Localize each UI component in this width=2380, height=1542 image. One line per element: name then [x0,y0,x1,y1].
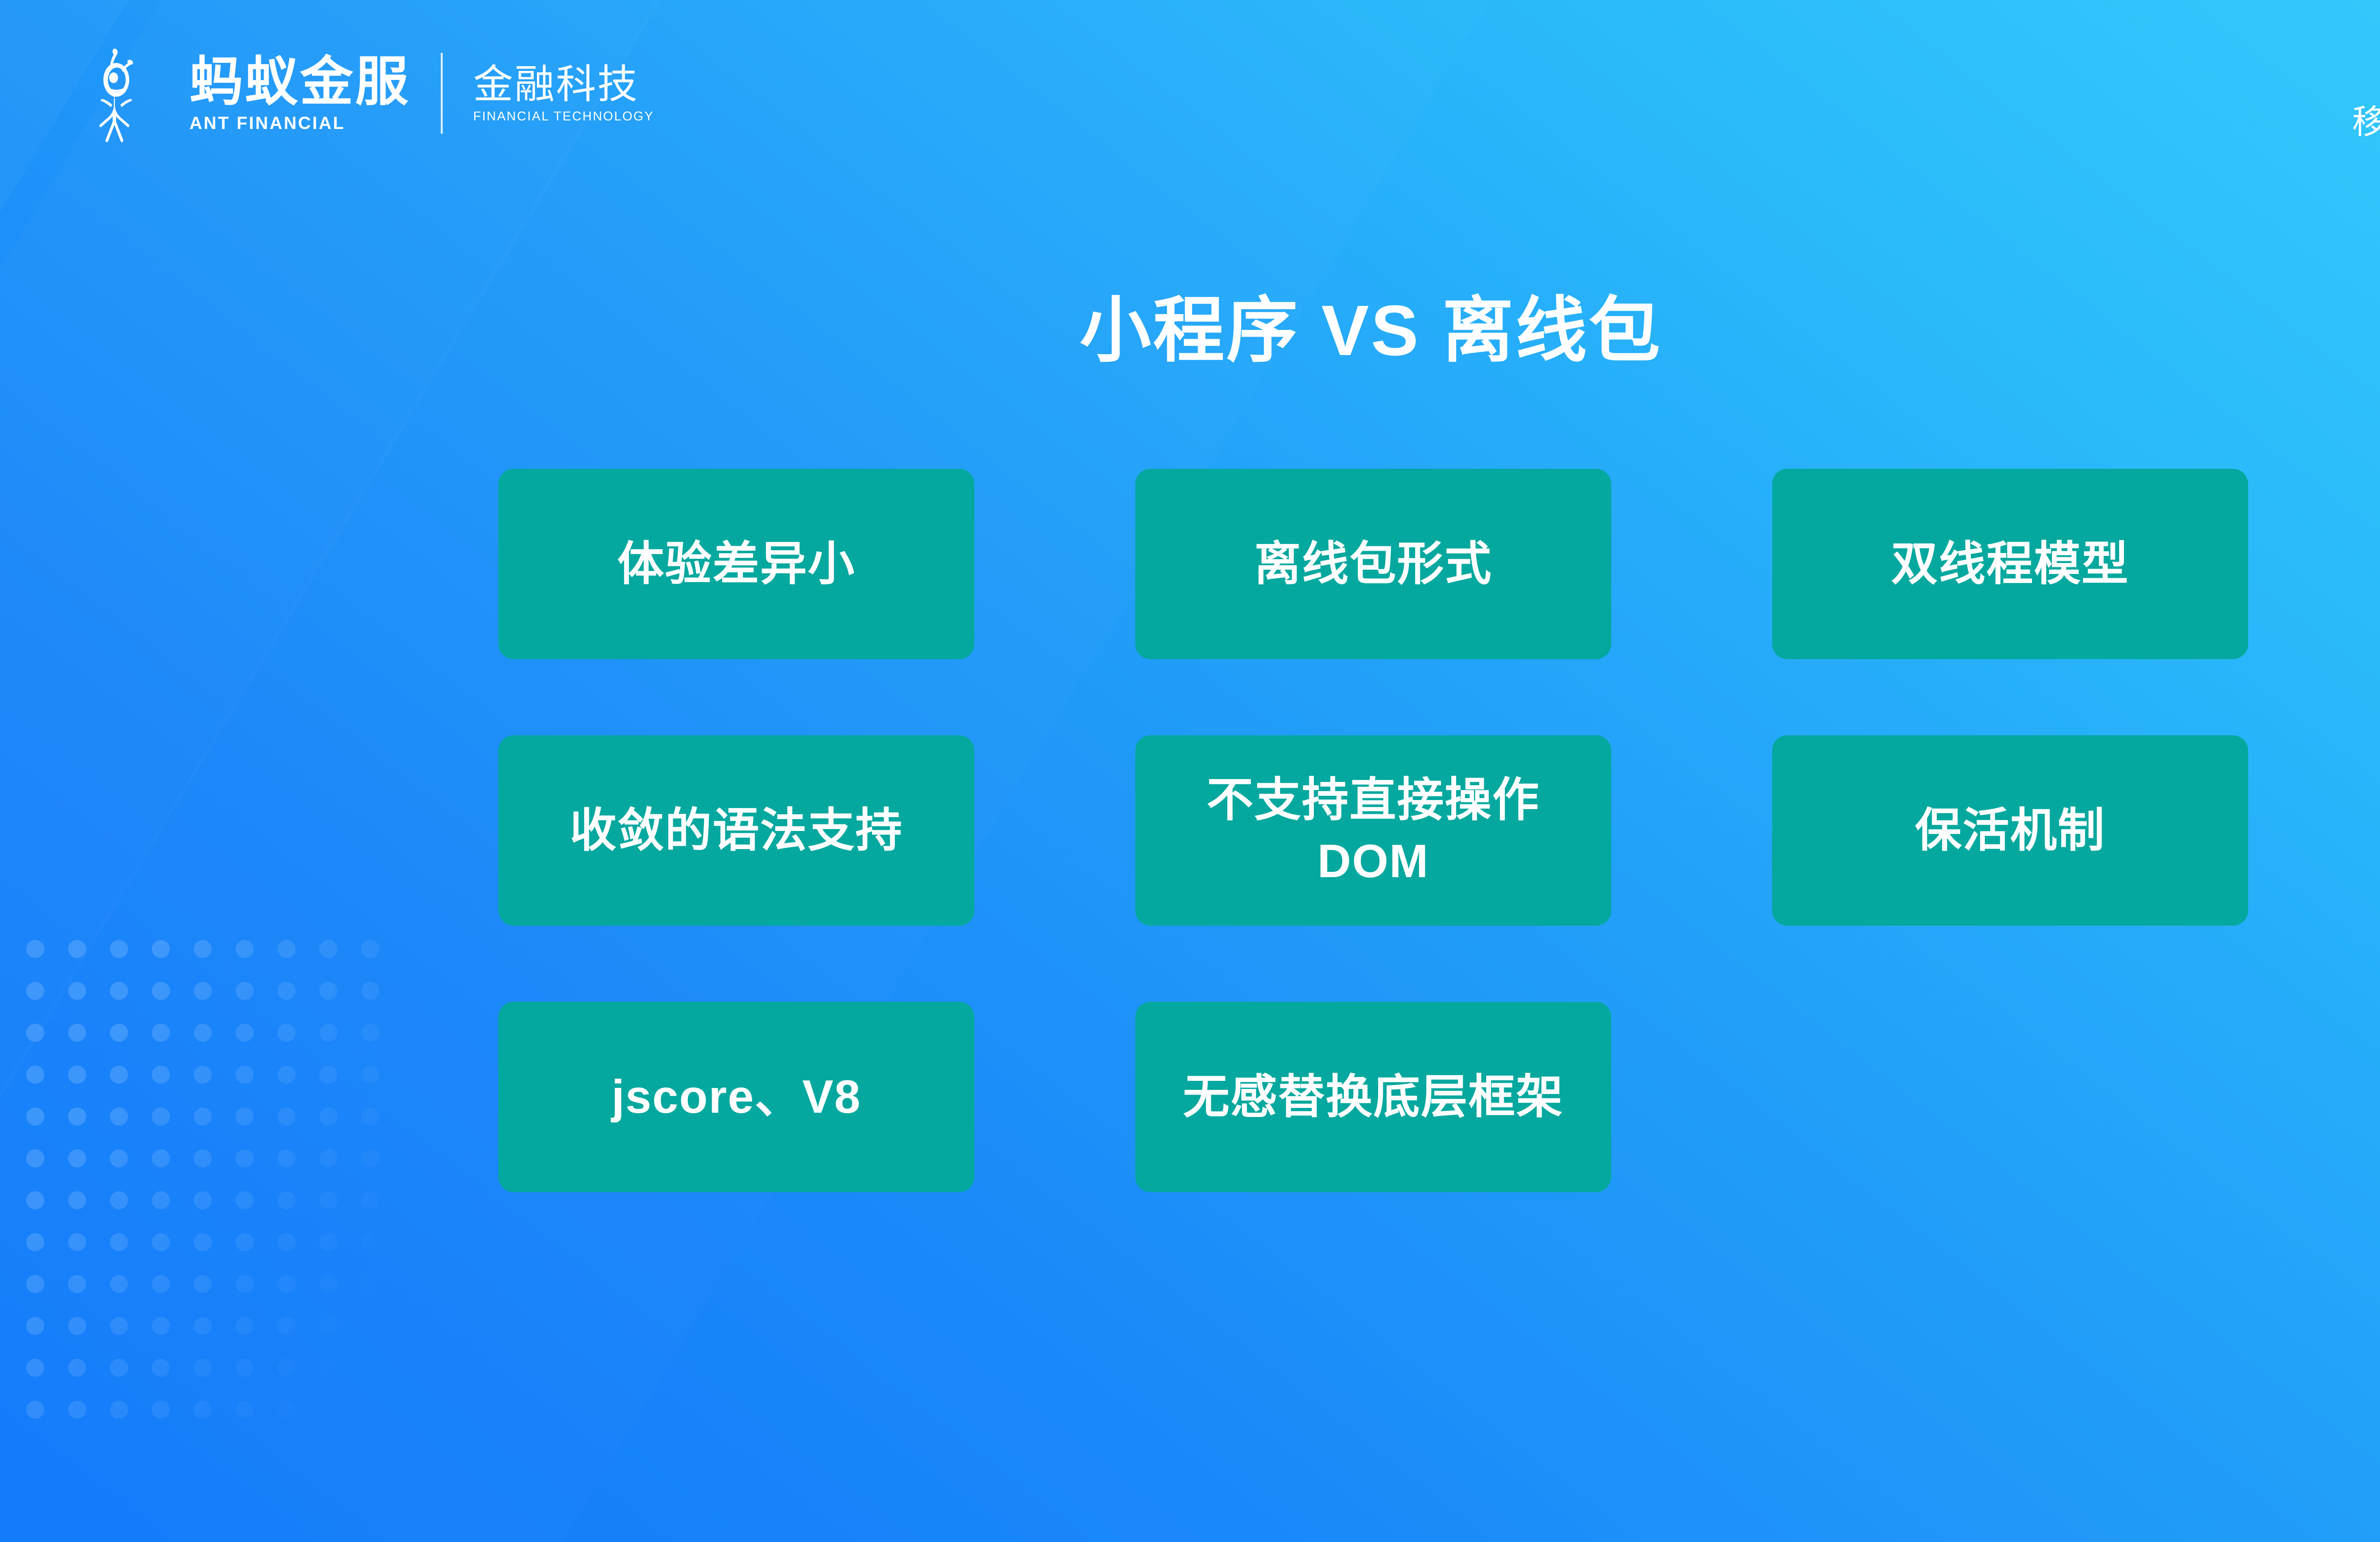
feature-card-placeholder [1772,1002,2248,1192]
diagonal-stripe-decoration [0,0,5,1542]
ant-mascot-icon [80,43,181,144]
brand-name-cn: 蚂蚁金服 [189,55,410,109]
feature-card-label: 双线程模型 [1891,533,2129,594]
slide-canvas: 蚂蚁金服 ANT FINANCIAL 金融科技 FINANCIAL TECHNO… [0,0,2380,1542]
product-label: 移动开发平台mPaaS [2352,95,2380,143]
brand-lockup: 蚂蚁金服 ANT FINANCIAL 金融科技 FINANCIAL TECHNO… [189,46,654,141]
feature-card-label: 保活机制 [1915,800,2105,861]
brand-logo: 蚂蚁金服 ANT FINANCIAL 金融科技 FINANCIAL TECHNO… [80,46,654,141]
feature-card-grid: 体验差异小离线包形式双线程模型收敛的语法支持不支持直接操作DOM保活机制jsco… [498,469,2248,1192]
feature-card[interactable]: 收敛的语法支持 [498,735,974,926]
diagonal-stripe-decoration [0,0,288,1542]
feature-card-label: 无感替换底层框架 [1183,1066,1564,1127]
logo-divider [441,53,443,134]
feature-card-label: 不支持直接操作DOM [1207,769,1540,892]
feature-card[interactable]: 体验差异小 [498,469,974,659]
feature-card[interactable]: jscore、V8 [498,1002,974,1192]
feature-card[interactable]: 离线包形式 [1135,469,1611,659]
feature-card-label: 体验差异小 [617,533,855,594]
feature-card-label: 收敛的语法支持 [570,800,903,861]
feature-card[interactable]: 不支持直接操作DOM [1135,735,1611,926]
brand-primary: 蚂蚁金服 ANT FINANCIAL [189,55,410,132]
feature-card[interactable]: 双线程模型 [1772,469,2248,659]
feature-card-label: jscore、V8 [612,1066,862,1127]
dot-grid-decoration-bottom-left [14,928,395,1433]
diagonal-stripe-decoration [0,0,484,1542]
brand-name-en: ANT FINANCIAL [189,114,410,132]
feature-card[interactable]: 无感替换底层框架 [1135,1002,1611,1192]
brand-secondary: 金融科技 FINANCIAL TECHNOLOGY [473,64,654,123]
feature-card-label: 离线包形式 [1254,533,1492,594]
feature-card[interactable]: 保活机制 [1772,735,2248,926]
page-title: 小程序 VS 离线包 [0,295,2380,366]
brand-sub-cn: 金融科技 [473,64,654,104]
brand-sub-en: FINANCIAL TECHNOLOGY [473,110,654,123]
